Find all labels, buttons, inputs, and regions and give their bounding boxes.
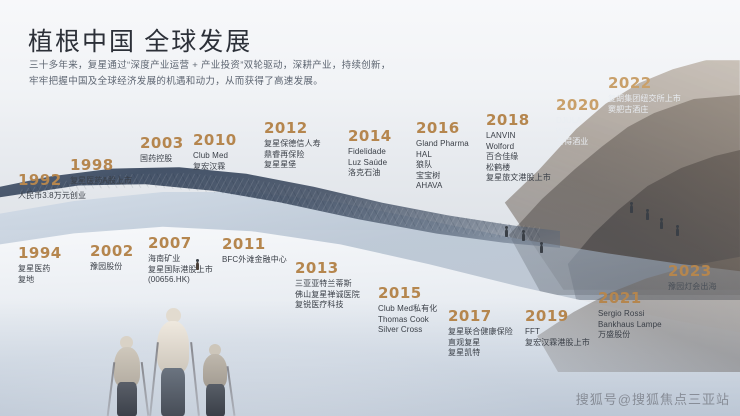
climber-silhouette <box>540 245 543 253</box>
timeline-year: 1998 <box>70 157 132 173</box>
timeline-year: 2017 <box>448 308 513 324</box>
timeline-detail: DJULA WEI 舍得酒业 <box>556 116 600 148</box>
timeline-year: 2020 <box>556 97 600 113</box>
timeline-year: 2014 <box>348 128 392 144</box>
timeline-detail: 复星医药 复地 <box>18 264 62 285</box>
timeline-detail: 海南矿业 复星国际港股上市 (00656.HK) <box>148 254 213 286</box>
timeline-year: 2013 <box>295 260 360 276</box>
timeline-year: 2021 <box>598 290 662 306</box>
timeline-year: 2007 <box>148 235 213 251</box>
timeline-detail: Club Med 复宏汉霖 <box>193 151 237 172</box>
timeline-year: 2016 <box>416 120 469 136</box>
timeline-year: 2019 <box>525 308 590 324</box>
timeline-entry-2011: 2011 BFC外滩金融中心 <box>222 236 287 266</box>
timeline-entry-2014: 2014 Fidelidade Luz Saúde 洛克石油 <box>348 128 392 179</box>
climber-silhouette <box>505 229 508 237</box>
timeline-entry-1998: 1998 复星医药A股上市 <box>70 157 132 187</box>
skier-figure-right <box>198 342 234 416</box>
timeline-detail: 国药控股 <box>140 154 184 165</box>
timeline-detail: 复星联合健康保险 直观复星 复星凯特 <box>448 327 513 359</box>
timeline-detail: 豫园灯会出海 <box>668 282 717 293</box>
timeline-detail: 三亚亚特兰蒂斯 佛山复星禅诚医院 复锐医疗科技 <box>295 279 360 311</box>
skier-figure-left <box>108 332 148 416</box>
timeline-detail: Fidelidade Luz Saúde 洛克石油 <box>348 147 392 179</box>
timeline-entry-2012: 2012 复星保德信人寿 鼎睿再保险 复星星堡 <box>264 120 321 171</box>
climber-silhouette <box>522 233 525 241</box>
timeline-entry-2010: 2010 Club Med 复宏汉霖 <box>193 132 237 172</box>
timeline-year: 2011 <box>222 236 287 252</box>
timeline-detail: FFT 复宏汉霖港股上市 <box>525 327 590 348</box>
timeline-entry-2016: 2016 Gland Pharma HAL 狼队 宝宝树 AHAVA <box>416 120 469 192</box>
timeline-detail: Club Med私有化 Thomas Cook Silver Cross <box>378 304 437 336</box>
timeline-entry-2019: 2019 FFT 复宏汉霖港股上市 <box>525 308 590 348</box>
timeline-entry-2007: 2007 海南矿业 复星国际港股上市 (00656.HK) <box>148 235 213 286</box>
timeline-detail: 复星保德信人寿 鼎睿再保险 复星星堡 <box>264 139 321 171</box>
timeline-detail: LANVIN Wolford 百合佳缘 松鹤楼 复星旅文港股上市 <box>486 131 551 184</box>
page-title: 植根中国 全球发展 <box>28 22 252 58</box>
infographic-canvas: 植根中国 全球发展 三十多年来，复星通过“深度产业运营 + 产业投资”双轮驱动，… <box>0 0 740 416</box>
timeline-year: 1994 <box>18 245 62 261</box>
timeline-year: 2022 <box>608 75 681 91</box>
timeline-entry-2015: 2015 Club Med私有化 Thomas Cook Silver Cros… <box>378 285 437 336</box>
timeline-entry-2020: 2020 DJULA WEI 舍得酒业 <box>556 97 600 148</box>
skier-figure-center <box>152 308 198 416</box>
timeline-entry-1994: 1994 复星医药 复地 <box>18 245 62 285</box>
climber-silhouette <box>676 228 679 236</box>
page-subtitle: 三十多年来，复星通过“深度产业运营 + 产业投资”双轮驱动，深耕产业，持续创新，… <box>29 58 391 90</box>
timeline-detail: BFC外滩金融中心 <box>222 255 287 266</box>
timeline-year: 2018 <box>486 112 551 128</box>
watermark-account: 搜狐号@搜狐焦点三亚站 <box>576 389 730 408</box>
timeline-detail: 复星医药A股上市 <box>70 176 132 187</box>
climber-silhouette <box>660 221 663 229</box>
timeline-year: 2002 <box>90 243 134 259</box>
climber-silhouette <box>646 212 649 220</box>
timeline-year: 2023 <box>668 263 717 279</box>
climber-silhouette <box>630 205 633 213</box>
timeline-entry-2017: 2017 复星联合健康保险 直观复星 复星凯特 <box>448 308 513 359</box>
timeline-detail: 复朗集团纽交所上市 窦舥古酒庄 <box>608 94 681 115</box>
timeline-entry-2013: 2013 三亚亚特兰蒂斯 佛山复星禅诚医院 复锐医疗科技 <box>295 260 360 311</box>
timeline-entry-2023: 2023 豫园灯会出海 <box>668 263 717 293</box>
timeline-year: 2003 <box>140 135 184 151</box>
timeline-year: 2015 <box>378 285 437 301</box>
timeline-entry-2002: 2002 豫园股份 <box>90 243 134 273</box>
timeline-entry-2021: 2021 Sergio Rossi Bankhaus Lampe 万盛股份 <box>598 290 662 341</box>
timeline-detail: Sergio Rossi Bankhaus Lampe 万盛股份 <box>598 309 662 341</box>
timeline-detail: Gland Pharma HAL 狼队 宝宝树 AHAVA <box>416 139 469 192</box>
timeline-detail: 豫园股份 <box>90 262 134 273</box>
timeline-entry-2022: 2022 复朗集团纽交所上市 窦舥古酒庄 <box>608 75 681 115</box>
timeline-year: 2010 <box>193 132 237 148</box>
timeline-detail: 人民币3.8万元创业 <box>18 191 86 202</box>
timeline-entry-2018: 2018 LANVIN Wolford 百合佳缘 松鹤楼 复星旅文港股上市 <box>486 112 551 184</box>
timeline-year: 2012 <box>264 120 321 136</box>
timeline-entry-2003: 2003 国药控股 <box>140 135 184 165</box>
